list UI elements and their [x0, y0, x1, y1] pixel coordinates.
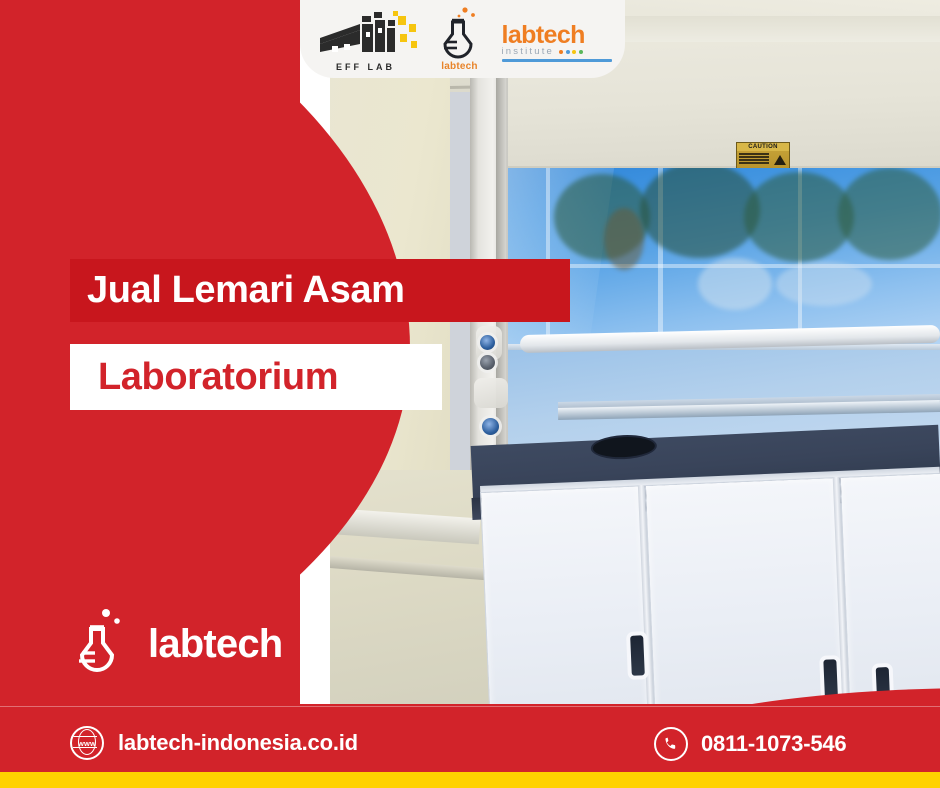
caution-sticker-lines: [737, 151, 771, 168]
phone-handset-icon: [662, 735, 680, 753]
labtech-institute-logo: labtech institute: [502, 22, 612, 72]
bench-reflection: [776, 262, 872, 306]
poster-canvas: CAUTION: [0, 0, 940, 788]
contact-website[interactable]: www labtech-indonesia.co.id: [70, 726, 358, 760]
bench-reflection: [698, 258, 772, 310]
caution-sticker-body: [737, 151, 789, 168]
title-line-2: Laboratorium: [70, 356, 338, 399]
globe-icon-text: www: [78, 739, 96, 748]
institute-subword: institute: [502, 46, 555, 57]
hood-glass-sash: [508, 168, 940, 350]
institute-dots: [559, 50, 583, 54]
efflab-building-icon: [314, 10, 418, 62]
efflab-logo-text: EFF LAB: [314, 62, 418, 72]
globe-parallel: [73, 736, 97, 737]
phone-icon: [654, 727, 688, 761]
labtech-flask-logo: labtech: [432, 6, 488, 72]
foliage-reflection: [838, 168, 940, 260]
phone-number-text: 0811-1073-546: [701, 731, 846, 757]
gas-valve-knob: [480, 335, 495, 350]
flask-icon: [70, 606, 132, 682]
cabinet-handle[interactable]: [630, 635, 645, 676]
logo-slot-labtech-flask: labtech: [432, 6, 488, 72]
title-line-1-band: Jual Lemari Asam: [70, 259, 570, 322]
water-valve-knob: [480, 355, 495, 370]
contact-phone[interactable]: 0811-1073-546: [654, 727, 846, 761]
caution-sticker: CAUTION: [736, 142, 790, 170]
service-outlet-plate: [474, 378, 508, 408]
logo-slot-efflab: EFF LAB: [314, 10, 418, 72]
trunk-reflection: [604, 208, 644, 270]
caution-sticker-title: CAUTION: [737, 143, 789, 151]
yellow-bottom-bar: [0, 772, 940, 788]
globe-icon: www: [70, 726, 104, 760]
title-line-2-band: Laboratorium: [70, 344, 442, 410]
logo-slot-labtech-institute: labtech institute: [502, 22, 612, 72]
labtech-flask-logo-text: labtech: [432, 61, 488, 72]
caution-sticker-pictogram: [771, 151, 789, 168]
brand-block: labtech: [70, 606, 282, 682]
institute-wordmark: labtech: [502, 22, 612, 48]
foliage-reflection: [640, 168, 760, 258]
title-line-1: Jual Lemari Asam: [70, 269, 404, 312]
institute-underline: [502, 59, 612, 62]
brand-flask-logo: [70, 606, 132, 682]
brand-name: labtech: [148, 624, 282, 664]
flask-icon: [432, 6, 488, 62]
socket-knob: [482, 418, 499, 435]
header-logo-bar: EFF LAB labtech: [300, 0, 625, 78]
website-url-text: labtech-indonesia.co.id: [118, 730, 358, 756]
footer-divider-line: [0, 706, 940, 707]
efflab-logo: EFF LAB: [314, 10, 418, 72]
